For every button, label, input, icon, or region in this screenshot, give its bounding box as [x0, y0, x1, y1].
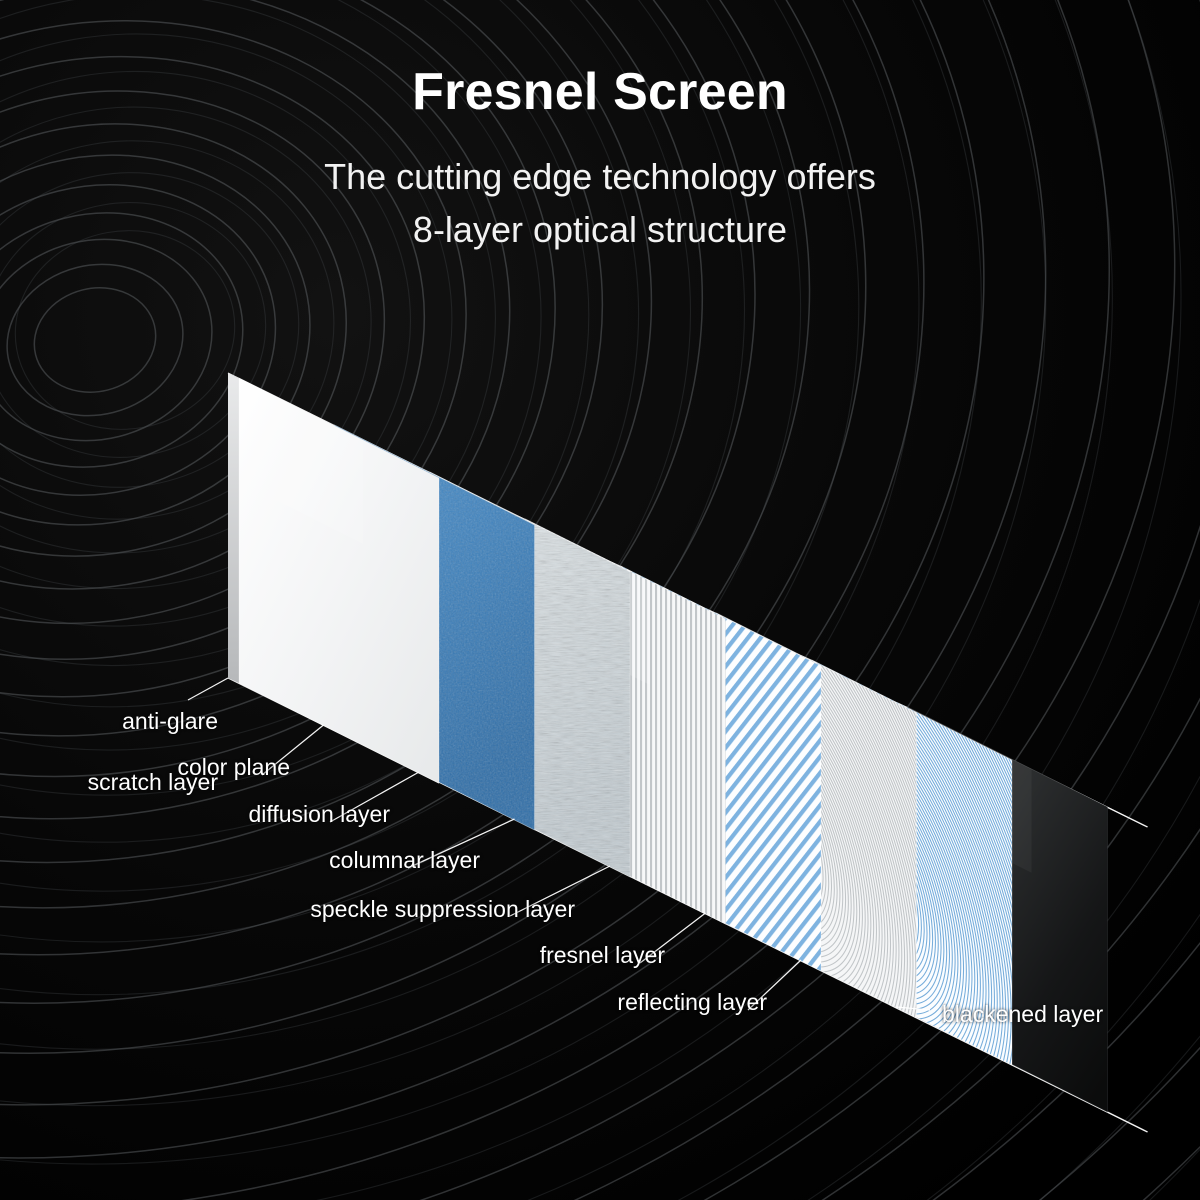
subtitle-line-2: 8-layer optical structure: [0, 203, 1200, 256]
poster-canvas: Fresnel Screen The cutting edge technolo…: [0, 0, 1200, 1200]
label-color-plane: color plane: [60, 752, 290, 782]
label-reflecting-layer: reflecting layer: [460, 987, 767, 1017]
label-speckle-suppression-layer: speckle suppression layer: [180, 894, 575, 924]
page-subtitle: The cutting edge technology offers 8-lay…: [0, 120, 1200, 257]
layer-panel-1: [228, 373, 439, 783]
label-line: anti-glare: [18, 706, 218, 736]
label-blackened-layer: blackened layer: [942, 999, 1200, 1029]
guide-bottom-last: [1108, 1112, 1148, 1132]
label-columnar-layer: columnar layer: [170, 845, 480, 875]
subtitle-line-1: The cutting edge technology offers: [0, 150, 1200, 203]
label-diffusion-layer: diffusion layer: [100, 799, 390, 829]
heading-block: Fresnel Screen The cutting edge technolo…: [0, 0, 1200, 257]
page-title: Fresnel Screen: [0, 0, 1200, 120]
label-fresnel-layer: fresnel layer: [360, 940, 665, 970]
panel-side-edge: [228, 373, 239, 683]
